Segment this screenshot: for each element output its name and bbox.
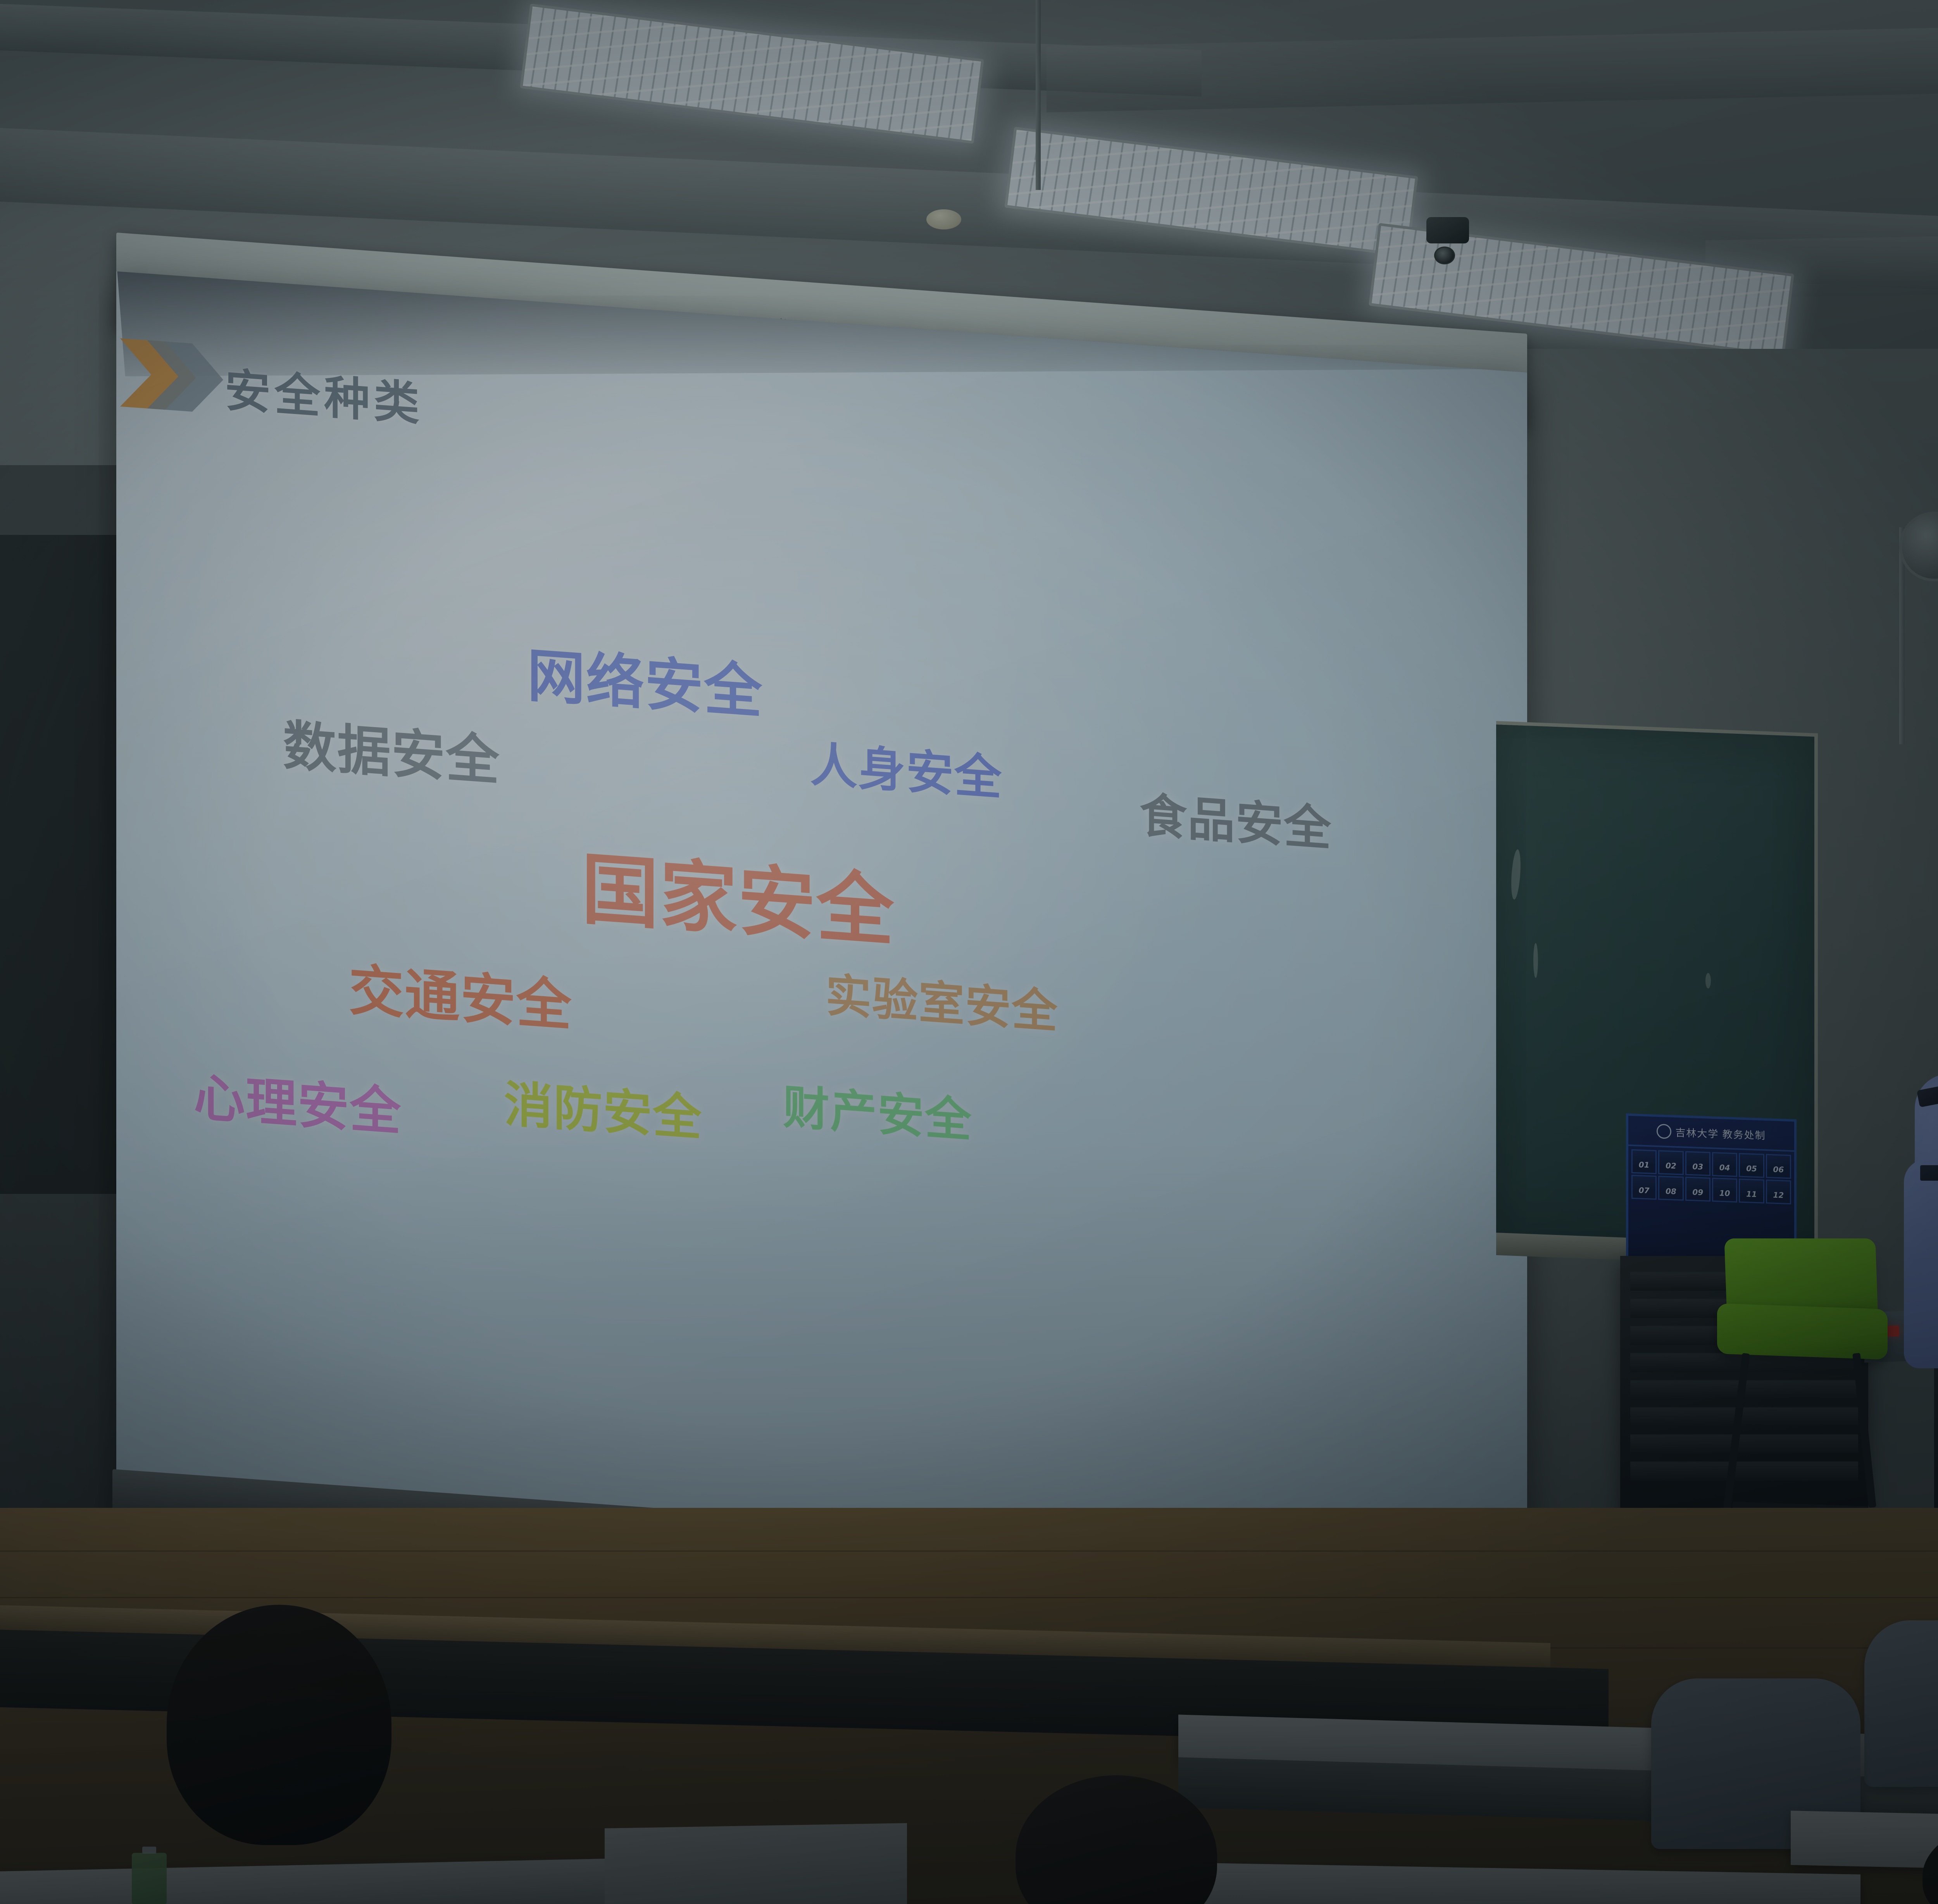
safety-word-cloud: 网络安全数据安全人身安全食品安全国家安全交通安全实验室安全心理安全消防安全财产安… (116, 271, 1527, 1621)
auditorium-seat[interactable] (1864, 1620, 1938, 1787)
secondary-board-header-text: 吉林大学 教务处制 (1675, 1124, 1766, 1142)
word-cloud-term: 网络安全 (527, 628, 763, 730)
projector-mount-pipe (1036, 0, 1041, 190)
projector-lens-icon (1434, 247, 1455, 264)
university-seal-icon (1657, 1124, 1671, 1139)
rack-unit (1630, 1461, 1858, 1481)
officer-arm (1904, 1159, 1938, 1368)
word-cloud-term: 消防安全 (504, 1065, 702, 1150)
word-cloud-term: 心理安全 (194, 1056, 402, 1145)
audience-desk-foreground (605, 1823, 907, 1904)
word-cloud-term: 财产安全 (783, 1069, 972, 1150)
word-cloud-term: 人身安全 (810, 726, 1002, 809)
chair-seat[interactable] (1717, 1303, 1888, 1359)
word-cloud-term: 数据安全 (283, 702, 500, 795)
word-cloud-term: 交通安全 (349, 945, 572, 1041)
presentation-slide: 安全种类 网络安全数据安全人身安全食品安全国家安全交通安全实验室安全心理安全消防… (116, 271, 1527, 1621)
smoke-detector (926, 209, 961, 229)
projection-screen-frame: 安全种类 网络安全数据安全人身安全食品安全国家安全交通安全实验室安全心理安全消防… (116, 271, 1527, 1621)
rack-unit (1630, 1434, 1858, 1454)
word-cloud-term: 实验室安全 (826, 958, 1058, 1041)
secondary-board-grid: 01 02 03 04 05 06 07 08 09 10 11 12 (1628, 1146, 1794, 1208)
audience-head-foreground (167, 1605, 391, 1845)
projector (1426, 217, 1469, 243)
word-cloud-term: 食品安全 (1140, 777, 1332, 859)
officer-shoulder-patch (1920, 1165, 1938, 1181)
beverage-bottle (132, 1853, 167, 1904)
left-wall-shadow (0, 535, 124, 1194)
rack-unit (1630, 1407, 1858, 1426)
secondary-board-header: 吉林大学 教务处制 (1628, 1116, 1794, 1152)
word-cloud-term: 国家安全 (581, 826, 895, 961)
lecture-hall-photo: 此面为正 安全种类 网络安全数据安全人身安全食品安全国家安全交通安全实验室安全心… (0, 0, 1938, 1904)
